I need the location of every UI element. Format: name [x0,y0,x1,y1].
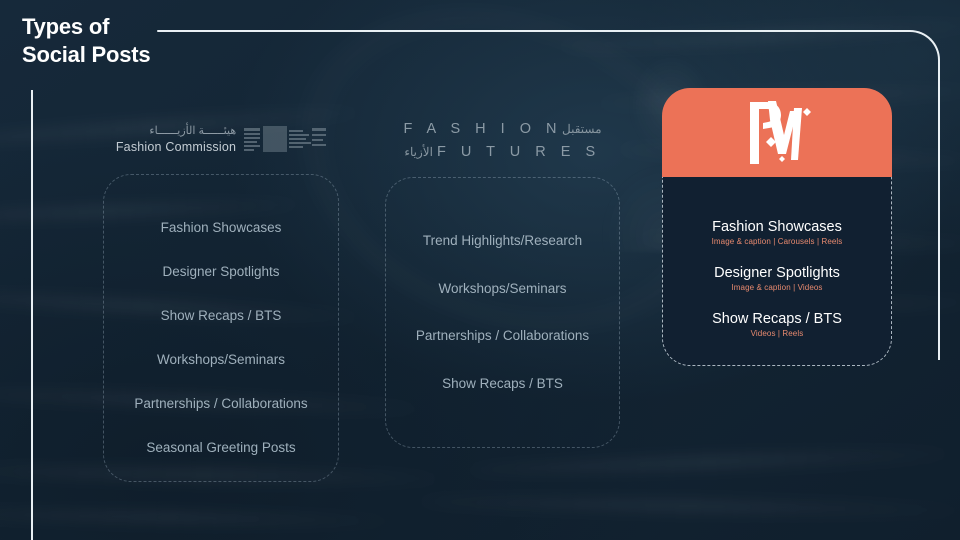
background-drape [470,447,950,478]
fashion-commission-latin-label: Fashion Commission [116,139,236,155]
list-item: Seasonal Greeting Posts [104,441,338,455]
corner-frame-line [857,30,940,360]
fashion-futures-logo: F A S H I O Nمستقبل الأزياء F U T U R E … [385,118,620,174]
background-drape [420,495,960,516]
list-item: Trend Highlights/Research [386,234,619,248]
background-drape [0,508,390,527]
fashion-futures-latin-1: F A S H I O N [403,121,562,137]
column-fashion-futures: F A S H I O Nمستقبل الأزياء F U T U R E … [385,118,620,448]
fashion-futures-line-2: الأزياء F U T U R E S [385,141,620,164]
riyadh-week-monogram-icon [738,98,816,168]
left-vertical-line [31,90,33,540]
list-item: Workshops/Seminars [386,282,619,296]
list-item: Partnerships / Collaborations [104,397,338,411]
fashion-futures-latin-2: F U T U R E S [437,144,601,160]
fashion-futures-line-1: F A S H I O Nمستقبل [385,118,620,141]
fashion-commission-mark-icon [244,124,326,156]
fashion-commission-item-list: Fashion Showcases Designer Spotlights Sh… [104,221,338,455]
slide-canvas: Types of Social Posts هيئــــــة الأزيــ… [0,0,960,540]
fashion-commission-wordmark: هيئــــــة الأزيــــــاء Fashion Commiss… [116,125,236,155]
list-item: Partnerships / Collaborations [386,329,619,343]
page-title-line-2: Social Posts [22,41,150,69]
list-item: Show Recaps / BTS [386,377,619,391]
list-item: Show Recaps / BTS [104,309,338,323]
fashion-commission-card: Fashion Showcases Designer Spotlights Sh… [103,174,339,482]
fashion-futures-arabic-1: مستقبل [562,122,602,136]
list-item: Workshops/Seminars [104,353,338,367]
page-title-line-1: Types of [22,13,150,41]
fashion-futures-item-list: Trend Highlights/Research Workshops/Semi… [386,234,619,390]
fashion-commission-arabic-label: هيئــــــة الأزيــــــاء [116,125,236,139]
column-fashion-commission: هيئــــــة الأزيــــــاء Fashion Commiss… [103,118,339,482]
fashion-commission-logo: هيئــــــة الأزيــــــاء Fashion Commiss… [103,118,339,162]
list-item: Designer Spotlights [104,265,338,279]
list-item: Fashion Showcases [104,221,338,235]
page-title: Types of Social Posts [22,13,150,69]
fashion-futures-card: Trend Highlights/Research Workshops/Semi… [385,177,620,448]
fashion-futures-arabic-2: الأزياء [404,145,433,159]
title-divider-line [157,30,879,32]
